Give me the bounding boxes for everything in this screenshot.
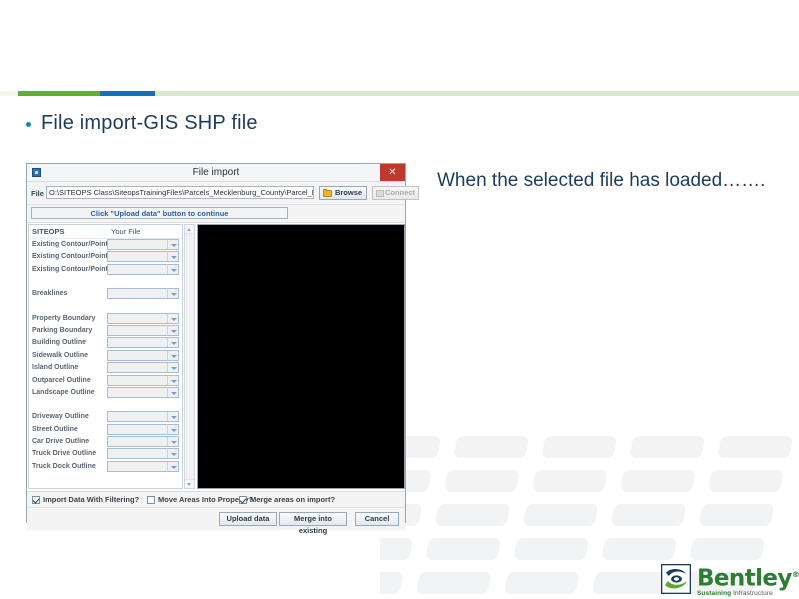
file-path-input[interactable]: O:\SITEOPS Class\SiteopsTrainingFiles\Pa… bbox=[46, 186, 314, 199]
mapping-row: Parking Boundary bbox=[29, 325, 182, 337]
mapping-row-dropdown[interactable] bbox=[107, 313, 179, 324]
mapping-row: Street Outline bbox=[29, 424, 182, 436]
chevron-down-icon[interactable] bbox=[167, 376, 178, 385]
checkbox-label: Merge areas on import? bbox=[250, 495, 335, 504]
scroll-up-icon[interactable] bbox=[185, 225, 194, 234]
mapping-row-spacer bbox=[29, 301, 182, 313]
chevron-down-icon[interactable] bbox=[167, 314, 178, 323]
chevron-down-icon[interactable] bbox=[167, 338, 178, 347]
chevron-down-icon[interactable] bbox=[167, 289, 178, 298]
mapping-row-dropdown[interactable] bbox=[107, 325, 179, 336]
mapping-row-dropdown[interactable] bbox=[107, 251, 179, 262]
chevron-down-icon[interactable] bbox=[167, 449, 178, 458]
mapping-row-label: Parking Boundary bbox=[32, 327, 92, 334]
mapping-row-dropdown[interactable] bbox=[107, 448, 179, 459]
chevron-down-icon[interactable] bbox=[167, 240, 178, 249]
chevron-down-icon[interactable] bbox=[167, 351, 178, 360]
dialog-title: File import bbox=[27, 167, 405, 178]
mapping-row-label: Breaklines bbox=[32, 290, 67, 297]
scroll-down-icon[interactable] bbox=[185, 479, 194, 488]
accent-segment-green bbox=[18, 91, 100, 96]
slide-caption: When the selected file has loaded……. bbox=[437, 168, 767, 194]
chevron-down-icon[interactable] bbox=[167, 437, 178, 446]
mapping-row-list: Existing Contour/PointsExisting Contour/… bbox=[29, 239, 182, 473]
browse-button[interactable]: Browse bbox=[319, 186, 367, 200]
mapping-row-label: Property Boundary bbox=[32, 315, 95, 322]
mapping-row-dropdown[interactable] bbox=[107, 436, 179, 447]
mapping-row: Island Outline bbox=[29, 362, 182, 374]
mapping-row-label: Car Drive Outline bbox=[32, 438, 89, 445]
mapping-row-label: Existing Contour/Points bbox=[32, 253, 112, 260]
map-preview-viewport[interactable] bbox=[197, 224, 405, 489]
mapping-row-label: Landscape Outline bbox=[32, 389, 95, 396]
bentley-wordmark: Bentley® Sustaining Infrastructure bbox=[697, 564, 799, 594]
mapping-row: Existing Contour/Points bbox=[29, 264, 182, 276]
mapping-row-dropdown[interactable] bbox=[107, 411, 179, 422]
mapping-row-label: Street Outline bbox=[32, 426, 78, 433]
mapping-row: Existing Contour/Points bbox=[29, 239, 182, 251]
mapping-row: Breaklines bbox=[29, 288, 182, 300]
chevron-down-icon[interactable] bbox=[167, 412, 178, 421]
dialog-footer: Upload data Merge into existing Cancel bbox=[27, 507, 405, 530]
import-options-row: Import Data With Filtering? Move Areas I… bbox=[27, 491, 405, 507]
mapping-row-label: Driveway Outline bbox=[32, 413, 89, 420]
bentley-mark-icon bbox=[661, 564, 691, 594]
mapping-row: Landscape Outline bbox=[29, 387, 182, 399]
chevron-down-icon[interactable] bbox=[167, 388, 178, 397]
mapping-row-label: Truck Dock Outline bbox=[32, 463, 96, 470]
mapping-row-dropdown[interactable] bbox=[107, 362, 179, 373]
mapping-row: Truck Drive Outline bbox=[29, 448, 182, 460]
layer-mapping-panel: SITEOPS Your File Existing Contour/Point… bbox=[28, 224, 183, 489]
mapping-row-dropdown[interactable] bbox=[107, 424, 179, 435]
checkbox-merge-areas-on-import[interactable]: Merge areas on import? bbox=[239, 495, 335, 504]
page-title: File import-GIS SHP file bbox=[26, 107, 446, 139]
mapping-column-headers: SITEOPS Your File bbox=[29, 225, 182, 239]
mapping-row-label: Island Outline bbox=[32, 364, 78, 371]
checkbox-move-areas-into-property[interactable]: Move Areas Into Property? bbox=[147, 495, 253, 504]
column-header-siteops: SITEOPS bbox=[32, 227, 65, 236]
mapping-row-label: Existing Contour/Points bbox=[32, 266, 112, 273]
slide-canvas: File import-GIS SHP file When the select… bbox=[0, 0, 799, 599]
tagline-bold: Sustaining bbox=[697, 590, 731, 597]
dialog-hint-row: Click "Upload data" button to continue bbox=[27, 205, 405, 222]
registered-mark: ® bbox=[792, 570, 799, 579]
folder-icon bbox=[323, 190, 332, 197]
mapping-row: Truck Dock Outline bbox=[29, 461, 182, 473]
checkbox-import-data-with-filtering[interactable]: Import Data With Filtering? bbox=[32, 495, 139, 504]
page-title-text: File import-GIS SHP file bbox=[41, 112, 258, 135]
mapping-row-label: Existing Contour/Points bbox=[32, 241, 112, 248]
mapping-row-dropdown[interactable] bbox=[107, 288, 179, 299]
mapping-row: Building Outline bbox=[29, 337, 182, 349]
mapping-row: Outparcel Outline bbox=[29, 375, 182, 387]
mapping-row-dropdown[interactable] bbox=[107, 387, 179, 398]
cancel-button[interactable]: Cancel bbox=[355, 512, 399, 526]
mapping-row-label: Truck Drive Outline bbox=[32, 450, 96, 457]
checkbox-icon bbox=[147, 496, 155, 504]
mapping-row: Existing Contour/Points bbox=[29, 251, 182, 263]
mapping-row-dropdown[interactable] bbox=[107, 264, 179, 275]
mapping-row-spacer bbox=[29, 399, 182, 411]
mapping-row-dropdown[interactable] bbox=[107, 337, 179, 348]
plug-icon bbox=[376, 190, 384, 197]
mapping-row: Driveway Outline bbox=[29, 411, 182, 423]
mapping-scrollbar[interactable] bbox=[184, 224, 195, 489]
dialog-body: SITEOPS Your File Existing Contour/Point… bbox=[27, 222, 405, 491]
mapping-row-dropdown[interactable] bbox=[107, 375, 179, 386]
upload-data-button[interactable]: Upload data bbox=[219, 512, 277, 526]
connect-button-label: Connect bbox=[385, 188, 415, 197]
chevron-down-icon[interactable] bbox=[167, 265, 178, 274]
mapping-row-dropdown[interactable] bbox=[107, 350, 179, 361]
mapping-row-spacer bbox=[29, 276, 182, 288]
chevron-down-icon[interactable] bbox=[167, 363, 178, 372]
bullet-icon bbox=[26, 122, 31, 127]
mapping-row-label: Building Outline bbox=[32, 339, 86, 346]
column-header-your-file: Your File bbox=[111, 227, 140, 236]
bentley-name: Bentley® bbox=[697, 564, 799, 590]
mapping-row: Car Drive Outline bbox=[29, 436, 182, 448]
mapping-row-label: Sidewalk Outline bbox=[32, 352, 88, 359]
accent-segment-pale bbox=[155, 91, 799, 96]
chevron-down-icon[interactable] bbox=[167, 252, 178, 261]
accent-segment-pale-left bbox=[0, 91, 18, 96]
merge-into-existing-button[interactable]: Merge into existing bbox=[279, 512, 347, 526]
mapping-row-label: Outparcel Outline bbox=[32, 377, 91, 384]
chevron-down-icon[interactable] bbox=[167, 326, 178, 335]
mapping-row-dropdown[interactable] bbox=[107, 461, 179, 472]
mapping-row-dropdown[interactable] bbox=[107, 239, 179, 250]
chevron-down-icon[interactable] bbox=[167, 425, 178, 434]
close-icon[interactable]: ✕ bbox=[380, 164, 405, 181]
chevron-down-icon[interactable] bbox=[167, 462, 178, 471]
dialog-titlebar[interactable]: File import ✕ bbox=[27, 164, 405, 182]
file-selection-row: File O:\SITEOPS Class\SiteopsTrainingFil… bbox=[27, 182, 405, 205]
mapping-row: Property Boundary bbox=[29, 313, 182, 325]
header-accent-rule bbox=[0, 91, 799, 96]
checkbox-icon bbox=[32, 496, 40, 504]
browse-button-label: Browse bbox=[335, 188, 362, 197]
bentley-logo: Bentley® Sustaining Infrastructure bbox=[661, 563, 785, 595]
tagline-rest: Infrastructure bbox=[731, 590, 773, 597]
checkbox-icon bbox=[239, 496, 247, 504]
file-label: File bbox=[31, 189, 44, 198]
accent-segment-blue bbox=[100, 91, 155, 96]
upload-hint-text: Click "Upload data" button to continue bbox=[31, 207, 288, 219]
mapping-row: Sidewalk Outline bbox=[29, 350, 182, 362]
connect-button[interactable]: Connect bbox=[372, 186, 419, 200]
file-import-dialog: File import ✕ File O:\SITEOPS Class\Site… bbox=[26, 163, 406, 523]
checkbox-label: Import Data With Filtering? bbox=[43, 495, 139, 504]
